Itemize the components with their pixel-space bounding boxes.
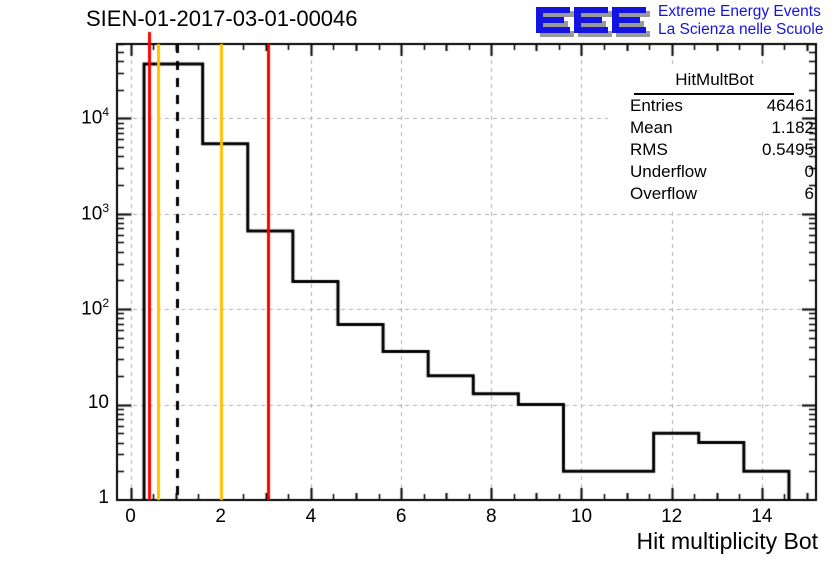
x-tick-label: 2	[201, 506, 241, 528]
x-axis-title: Hit multiplicity Bot	[637, 528, 818, 555]
stats-value-underflow: 0	[805, 162, 814, 182]
stats-row-overflow: Overflow 6	[630, 184, 814, 206]
y-tick-label: 103	[47, 201, 109, 225]
y-tick-label: 1	[47, 487, 109, 509]
x-tick-label: 0	[111, 506, 151, 528]
stats-box-divider	[634, 93, 794, 95]
stats-key-mean: Mean	[630, 118, 673, 138]
stats-box: HitMultBot Entries 46461 Mean 1.182 RMS …	[612, 70, 817, 206]
eee-logo-text: Extreme Energy Events La Scienza nelle S…	[658, 3, 823, 39]
stats-row-underflow: Underflow 0	[630, 162, 814, 184]
stats-value-rms: 0.5495	[762, 140, 814, 160]
root-canvas-page: SIEN-01-2017-03-01-00046 Extreme Energy	[0, 0, 836, 572]
x-tick-label: 8	[471, 506, 511, 528]
stats-row-rms: RMS 0.5495	[630, 140, 814, 162]
stats-key-rms: RMS	[630, 140, 668, 160]
stats-key-underflow: Underflow	[630, 162, 707, 182]
stats-value-mean: 1.182	[771, 118, 814, 138]
y-tick-label: 10	[47, 392, 109, 414]
eee-logo: Extreme Energy Events La Scienza nelle S…	[534, 2, 834, 42]
stats-value-overflow: 6	[805, 184, 814, 204]
x-tick-label: 12	[652, 506, 692, 528]
stats-key-overflow: Overflow	[630, 184, 697, 204]
stats-value-entries: 46461	[767, 96, 814, 116]
x-tick-label: 14	[742, 506, 782, 528]
stats-row-entries: Entries 46461	[630, 96, 814, 118]
x-tick-label: 6	[381, 506, 421, 528]
page-title: SIEN-01-2017-03-01-00046	[86, 6, 358, 32]
eee-logo-mark	[534, 3, 652, 39]
eee-logo-line1: Extreme Energy Events	[658, 3, 823, 21]
eee-logo-line2: La Scienza nelle Scuole	[658, 21, 823, 39]
y-tick-label: 104	[47, 105, 109, 129]
x-tick-label: 4	[291, 506, 331, 528]
x-tick-label: 10	[561, 506, 601, 528]
stats-box-title: HitMultBot	[612, 70, 817, 90]
y-tick-label: 102	[47, 296, 109, 320]
stats-row-mean: Mean 1.182	[630, 118, 814, 140]
stats-key-entries: Entries	[630, 96, 683, 116]
